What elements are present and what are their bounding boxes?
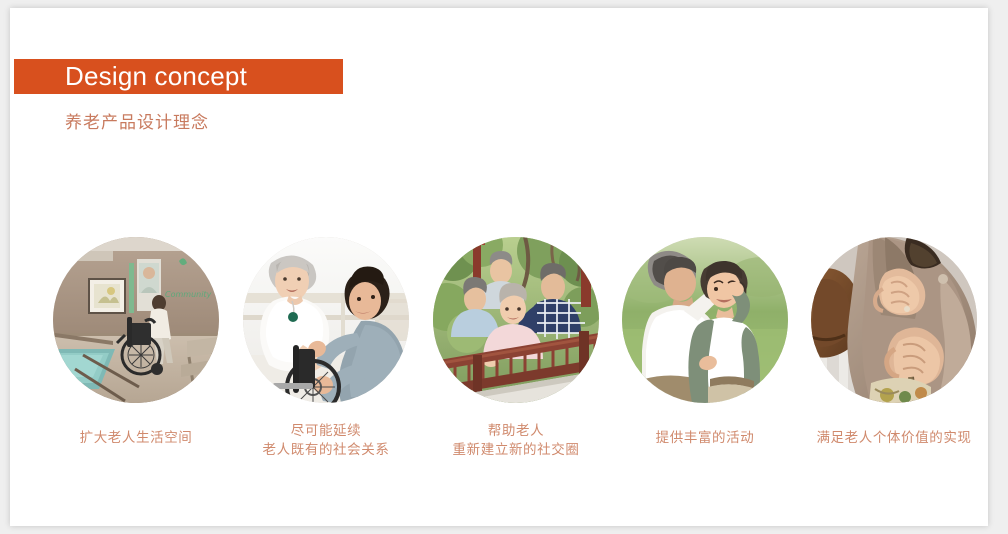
- slide-canvas: Design concept 养老产品设计理念: [10, 8, 988, 526]
- care-facility-corridor-wheelchair-photo: Community: [53, 237, 219, 403]
- elderly-hands-holding-cane-photo: [811, 237, 977, 403]
- svg-text:Community: Community: [165, 290, 212, 299]
- concept-card: 帮助老人 重新建立新的社交圈: [428, 237, 604, 459]
- elderly-group-at-garden-pavilion-photo: [433, 237, 599, 403]
- caregiver-with-elderly-woman-wheelchair-photo: [243, 237, 409, 403]
- concept-card-row: Community: [10, 8, 988, 526]
- card-caption: 扩大老人生活空间: [48, 428, 224, 447]
- concept-card: 提供丰富的活动: [617, 237, 793, 447]
- card-caption: 提供丰富的活动: [617, 428, 793, 447]
- card-caption: 帮助老人 重新建立新的社交圈: [428, 421, 604, 459]
- elderly-couple-dancing-outdoors-photo: [622, 237, 788, 403]
- card-caption: 尽可能延续 老人既有的社会关系: [238, 421, 414, 459]
- concept-card: 尽可能延续 老人既有的社会关系: [238, 237, 414, 459]
- concept-card: Community: [48, 237, 224, 447]
- card-caption: 满足老人个体价值的实现: [806, 428, 982, 447]
- concept-card: 满足老人个体价值的实现: [806, 237, 982, 447]
